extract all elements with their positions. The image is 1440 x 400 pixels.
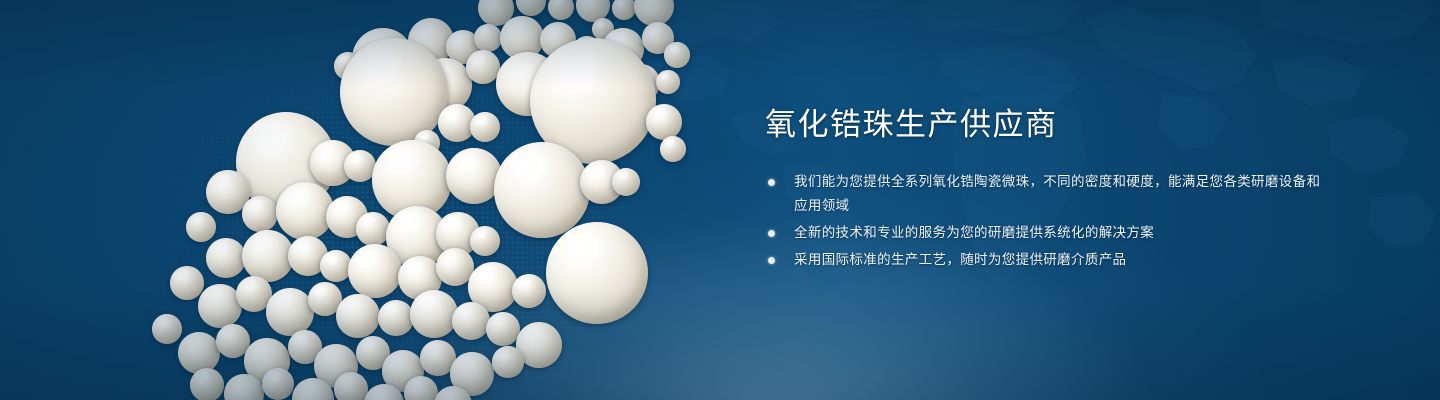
list-item: 采用国际标准的生产工艺，随时为您提供研磨介质产品 bbox=[768, 248, 1325, 272]
list-item: 全新的技术和专业的服务为您的研磨提供系统化的解决方案 bbox=[768, 221, 1325, 245]
list-item-label: 全新的技术和专业的服务为您的研磨提供系统化的解决方案 bbox=[794, 221, 1325, 245]
banner-content: 氧化锆珠生产供应商 我们能为您提供全系列氧化锆陶瓷微珠，不同的密度和硬度，能满足… bbox=[765, 104, 1325, 275]
bullet-dot-icon bbox=[768, 179, 775, 186]
bullet-dot-icon bbox=[768, 230, 775, 237]
feature-list: 我们能为您提供全系列氧化锆陶瓷微珠，不同的密度和硬度，能满足您各类研磨设备和应用… bbox=[768, 170, 1325, 272]
list-item: 我们能为您提供全系列氧化锆陶瓷微珠，不同的密度和硬度，能满足您各类研磨设备和应用… bbox=[768, 170, 1325, 218]
page-title: 氧化锆珠生产供应商 bbox=[765, 104, 1325, 146]
hero-banner: 氧化锆珠生产供应商 我们能为您提供全系列氧化锆陶瓷微珠，不同的密度和硬度，能满足… bbox=[0, 0, 1440, 400]
bullet-dot-icon bbox=[768, 257, 775, 264]
list-item-label: 我们能为您提供全系列氧化锆陶瓷微珠，不同的密度和硬度，能满足您各类研磨设备和应用… bbox=[794, 170, 1325, 218]
list-item-label: 采用国际标准的生产工艺，随时为您提供研磨介质产品 bbox=[794, 248, 1325, 272]
